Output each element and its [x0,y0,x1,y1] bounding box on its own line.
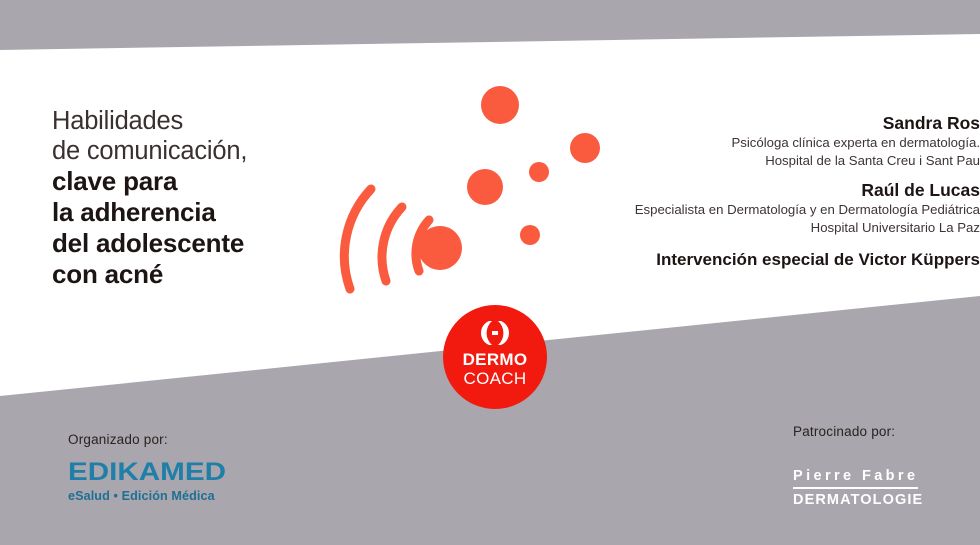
sponsor-block: Patrocinado por: Pierre Fabre DERMATOLOG… [793,424,980,508]
organizer-label: Organizado por: [68,432,268,447]
wave-arc-middle [382,207,402,281]
speaker-role: Psicóloga clínica experta en dermatologí… [550,134,980,152]
speaker-name: Raúl de Lucas [550,179,980,201]
dot-small-lower [520,225,540,245]
speaker-role: Especialista en Dermatología y en Dermat… [550,201,980,219]
pierre-fabre-division: DERMATOLOGIE [793,492,980,508]
logo-line-coach: COACH [443,369,547,388]
sponsor-label: Patrocinado por: [793,424,980,439]
edikamed-logo-text: EDIKAMED [68,460,226,484]
speaker-list: Sandra Ros Psicóloga clínica experta en … [550,112,980,271]
bowtie-x-icon [476,319,514,347]
edikamed-logo-icon: EDIKAMED [68,460,228,484]
dot-small-upper [529,162,549,182]
logo-line-dermo: DERMO [443,350,547,369]
wave-arc-outer [344,189,371,289]
speaker-entry: Raúl de Lucas Especialista en Dermatolog… [550,179,980,237]
speaker-entry: Sandra Ros Psicóloga clínica experta en … [550,112,980,170]
speaker-affiliation: Hospital Universitario La Paz [550,219,980,237]
organizer-block: Organizado por: EDIKAMED eSalud • Edició… [68,432,268,503]
speaker-affiliation: Hospital de la Santa Creu i Sant Pau [550,152,980,170]
bowtie-left-arc [481,321,492,345]
dot-large-lower [418,226,462,270]
pierre-fabre-brand: Pierre Fabre [793,468,918,489]
logo-wordmark: DERMO COACH [443,350,547,388]
top-grey-band [0,0,980,50]
edikamed-tagline: eSalud • Edición Médica [68,489,268,503]
wave-arcs [344,189,429,289]
bowtie-right-arc [498,321,509,345]
promo-banner: Habilidades de comunicación, clave para … [0,0,980,545]
special-guest-line: Intervención especial de Victor Küppers [550,249,980,271]
speaker-name: Sandra Ros [550,112,980,134]
dot-large-upper [481,86,519,124]
dermocoach-logo: DERMO COACH [443,305,547,409]
dot-medium-center [467,169,503,205]
bowtie-center-link [492,331,498,335]
speaker-separator [550,170,980,179]
